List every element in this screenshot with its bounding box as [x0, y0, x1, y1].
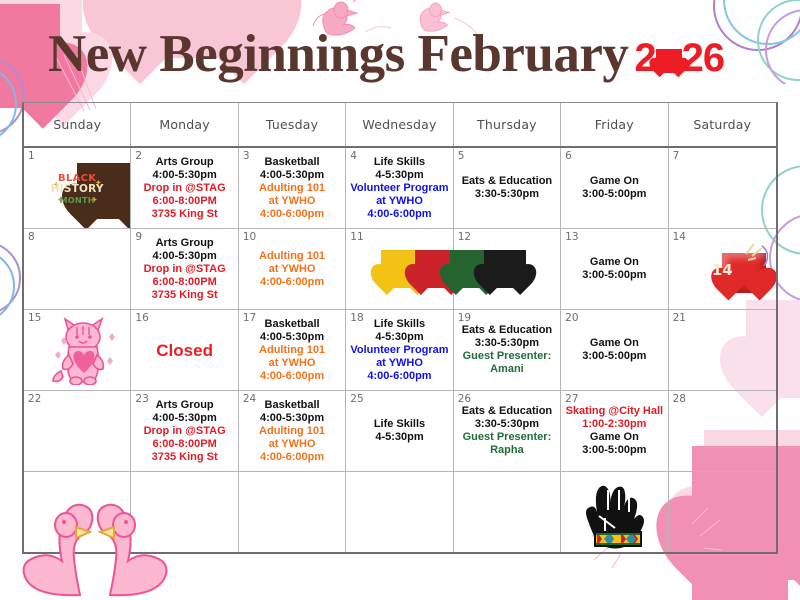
event-line: Adulting 101: [259, 250, 325, 263]
event-line: 3:30-5:30pm: [475, 418, 539, 431]
calendar-day-cell-empty[interactable]: [454, 472, 561, 552]
day-number: 15: [28, 312, 41, 324]
calendar-day-cell-17[interactable]: 17Basketball4:00-5:30pmAdulting 101at YW…: [239, 310, 346, 390]
event-line: Drop in @STAG: [144, 425, 226, 438]
calendar-day-cell-21[interactable]: 21: [669, 310, 776, 390]
event-line: 3:00-5:00pm: [582, 188, 646, 201]
weekday-header-sunday: Sunday: [24, 103, 131, 146]
calendar-day-cell-20[interactable]: 20Game On3:00-5:00pm: [561, 310, 668, 390]
calendar-day-cell-28[interactable]: 28: [669, 391, 776, 471]
calendar-day-cell-empty[interactable]: [346, 472, 453, 552]
event-line: Guest Presenter:: [463, 350, 552, 363]
calendar-day-cell-16[interactable]: 16Closed: [131, 310, 238, 390]
event-line: Arts Group: [156, 156, 214, 169]
calendar-day-cell-27[interactable]: 27Skating @City Hall1:00-2:30pmGame On3:…: [561, 391, 668, 471]
event-line: Adulting 101: [259, 182, 325, 195]
event-line: Life Skills: [374, 418, 425, 431]
event-line: Rapha: [490, 444, 524, 457]
calendar-day-cell-10[interactable]: 10Adulting 101at YWHO4:00-6:00pm: [239, 229, 346, 309]
event-line: 3735 King St: [152, 289, 218, 302]
event-line: Basketball: [265, 156, 320, 169]
calendar-day-cell-23[interactable]: 23Arts Group4:00-5:30pmDrop in @STAG6:00…: [131, 391, 238, 471]
day-number: 3: [243, 150, 250, 162]
event-line: 3735 King St: [152, 208, 218, 221]
bhm-line-2: HISTORY: [46, 184, 108, 195]
event-line: 4:00-6:00pm: [367, 370, 431, 383]
calendar-day-cell-11[interactable]: 11: [346, 229, 453, 309]
heart-icon: [656, 49, 682, 73]
calendar-day-cell-7[interactable]: 7: [669, 148, 776, 228]
event-line: at YWHO: [376, 195, 423, 208]
day-number: 20: [565, 312, 578, 324]
event-line: 4:00-5:30pm: [260, 331, 324, 344]
event-line: 4-5:30pm: [375, 331, 423, 344]
day-events: Game On3:00-5:00pm: [561, 149, 667, 227]
weekday-header-wednesday: Wednesday: [346, 103, 453, 146]
event-line: 4:00-5:30pm: [153, 250, 217, 263]
event-line: Volunteer Program: [350, 344, 448, 357]
day-number: 1: [28, 150, 35, 162]
day-number: 17: [243, 312, 256, 324]
event-line: Game On: [590, 431, 639, 444]
day-number: 9: [135, 231, 142, 243]
calendar-page: New Beginnings February 2 26 Sunday Mond…: [0, 0, 800, 600]
day-number: 25: [350, 393, 363, 405]
pink-cat-icon: [51, 315, 117, 385]
valentine-heart-icon: 14: [700, 253, 744, 293]
day-number: 19: [458, 312, 471, 324]
event-line: 3735 King St: [152, 451, 218, 464]
day-events: Life Skills4-5:30pmVolunteer Programat Y…: [346, 149, 452, 227]
calendar-day-cell-9[interactable]: 9Arts Group4:00-5:30pmDrop in @STAG6:00-…: [131, 229, 238, 309]
calendar-day-cell-18[interactable]: 18Life Skills4-5:30pmVolunteer Programat…: [346, 310, 453, 390]
calendar-week-row: 1BLACKHISTORYMONTH✦✦✦✦2Arts Group4:00-5:…: [24, 148, 776, 229]
calendar-day-cell-empty[interactable]: [239, 472, 346, 552]
event-line: 4-5:30pm: [375, 431, 423, 444]
event-line: 3:00-5:00pm: [582, 269, 646, 282]
black-history-month-heart-icon: BLACKHISTORYMONTH✦✦✦✦: [46, 163, 108, 219]
weekday-header-friday: Friday: [561, 103, 668, 146]
weekday-header-monday: Monday: [131, 103, 238, 146]
event-line: 6:00-8:00PM: [153, 195, 217, 208]
calendar-week-row: 1516Closed17Basketball4:00-5:30pmAdultin…: [24, 310, 776, 391]
event-line: 4:00-6:00pm: [260, 451, 324, 464]
day-number: 28: [673, 393, 686, 405]
event-line: 6:00-8:00PM: [153, 276, 217, 289]
event-line: Eats & Education: [462, 175, 552, 188]
event-line: at YWHO: [269, 263, 316, 276]
heart-icon-black: [484, 250, 526, 288]
event-line: 4-5:30pm: [375, 169, 423, 182]
day-number: 21: [673, 312, 686, 324]
day-number: 27: [565, 393, 578, 405]
event-line: 4:00-6:00pm: [260, 208, 324, 221]
event-line: at YWHO: [269, 357, 316, 370]
event-line: 3:00-5:00pm: [582, 444, 646, 457]
event-line: Guest Presenter:: [463, 431, 552, 444]
day-number: 23: [135, 393, 148, 405]
event-line: 6:00-8:00PM: [153, 438, 217, 451]
calendar-day-cell-empty[interactable]: [561, 472, 668, 552]
event-line: 4:00-5:30pm: [260, 169, 324, 182]
day-number: 24: [243, 393, 256, 405]
day-number: 8: [28, 231, 35, 243]
title-year: 2 26: [634, 38, 724, 78]
calendar-week-row: 2223Arts Group4:00-5:30pmDrop in @STAG6:…: [24, 391, 776, 472]
valentine-heart-label: 14: [700, 264, 744, 277]
bhm-line-3: MONTH: [46, 195, 108, 206]
calendar-day-cell-8[interactable]: 8: [24, 229, 131, 309]
event-line: Life Skills: [374, 156, 425, 169]
event-line: Arts Group: [156, 237, 214, 250]
calendar-day-cell-22[interactable]: 22: [24, 391, 131, 471]
year-suffix: 26: [682, 38, 725, 78]
calendar-week-row: 89Arts Group4:00-5:30pmDrop in @STAG6:00…: [24, 229, 776, 310]
event-line: Life Skills: [374, 318, 425, 331]
calendar-day-cell-24[interactable]: 24Basketball4:00-5:30pmAdulting 101at YW…: [239, 391, 346, 471]
calendar-day-cell-4[interactable]: 4Life Skills4-5:30pmVolunteer Programat …: [346, 148, 453, 228]
calendar-day-cell-2[interactable]: 2Arts Group4:00-5:30pmDrop in @STAG6:00-…: [131, 148, 238, 228]
title-text: New Beginnings February: [48, 28, 628, 81]
event-line: Eats & Education: [462, 324, 552, 337]
day-events: Arts Group4:00-5:30pmDrop in @STAG6:00-8…: [131, 149, 237, 227]
day-events: Basketball4:00-5:30pmAdulting 101at YWHO…: [239, 149, 345, 227]
day-number: 22: [28, 393, 41, 405]
event-line: Drop in @STAG: [144, 263, 226, 276]
event-line: Adulting 101: [259, 344, 325, 357]
event-line: Game On: [590, 337, 639, 350]
event-line: 4:00-5:30pm: [260, 412, 324, 425]
event-line: 4:00-6:00pm: [367, 208, 431, 221]
closed-label: Closed: [156, 344, 213, 357]
event-line: 4:00-5:30pm: [153, 412, 217, 425]
calendar-day-cell-15[interactable]: 15: [24, 310, 131, 390]
event-line: Basketball: [265, 399, 320, 412]
day-number: 2: [135, 150, 142, 162]
day-number: 26: [458, 393, 471, 405]
calendar-day-cell-5[interactable]: 5Eats & Education3:30-5:30pm: [454, 148, 561, 228]
event-line: 4:00-6:00pm: [260, 276, 324, 289]
event-line: 1:00-2:30pm: [582, 418, 646, 431]
event-line: Drop in @STAG: [144, 182, 226, 195]
weekday-header-row: Sunday Monday Tuesday Wednesday Thursday…: [22, 102, 778, 148]
event-line: 4:00-6:00pm: [260, 370, 324, 383]
event-line: at YWHO: [269, 195, 316, 208]
day-number: 13: [565, 231, 578, 243]
event-line: Skating @City Hall: [566, 405, 664, 418]
event-line: Game On: [590, 175, 639, 188]
event-line: Adulting 101: [259, 425, 325, 438]
event-line: 4:00-5:30pm: [153, 169, 217, 182]
day-number: 14: [673, 231, 686, 243]
event-line: Eats & Education: [462, 405, 552, 418]
raised-fist-icon: [575, 476, 653, 552]
day-number: 16: [135, 312, 148, 324]
calendar-day-cell-14[interactable]: 1414: [669, 229, 776, 309]
event-line: at YWHO: [269, 438, 316, 451]
weekday-header-tuesday: Tuesday: [239, 103, 346, 146]
day-number: 6: [565, 150, 572, 162]
event-line: Volunteer Program: [350, 182, 448, 195]
event-line: Amani: [490, 363, 524, 376]
event-line: 3:00-5:00pm: [582, 350, 646, 363]
day-number: 7: [673, 150, 680, 162]
event-line: Arts Group: [156, 399, 214, 412]
day-number: 12: [458, 231, 471, 243]
day-events: Eats & Education3:30-5:30pm: [454, 149, 560, 227]
event-line: at YWHO: [376, 357, 423, 370]
calendar-day-cell-13[interactable]: 13Game On3:00-5:00pm: [561, 229, 668, 309]
event-line: 3:30-5:30pm: [475, 337, 539, 350]
weekday-header-saturday: Saturday: [669, 103, 776, 146]
calendar-day-cell-empty[interactable]: [669, 472, 776, 552]
day-number: 18: [350, 312, 363, 324]
event-line: Game On: [590, 256, 639, 269]
calendar-day-cell-3[interactable]: 3Basketball4:00-5:30pmAdulting 101at YWH…: [239, 148, 346, 228]
calendar-day-cell-26[interactable]: 26Eats & Education3:30-5:30pmGuest Prese…: [454, 391, 561, 471]
page-title: New Beginnings February 2 26: [48, 28, 724, 81]
day-events: Arts Group4:00-5:30pmDrop in @STAG6:00-8…: [131, 230, 237, 308]
weekday-header-thursday: Thursday: [454, 103, 561, 146]
day-number: 10: [243, 231, 256, 243]
calendar-day-cell-6[interactable]: 6Game On3:00-5:00pm: [561, 148, 668, 228]
day-number: 5: [458, 150, 465, 162]
day-number: 11: [350, 231, 363, 243]
day-number: 4: [350, 150, 357, 162]
calendar-day-cell-12[interactable]: 12: [454, 229, 561, 309]
calendar-day-cell-25[interactable]: 25Life Skills4-5:30pm: [346, 391, 453, 471]
event-line: 3:30-5:30pm: [475, 188, 539, 201]
calendar-day-cell-19[interactable]: 19Eats & Education3:30-5:30pmGuest Prese…: [454, 310, 561, 390]
calendar-day-cell-1[interactable]: 1BLACKHISTORYMONTH✦✦✦✦: [24, 148, 131, 228]
pink-swans-bottom-left: [20, 491, 170, 600]
event-line: Basketball: [265, 318, 320, 331]
pink-heart-bottom-right-small: [692, 570, 788, 600]
